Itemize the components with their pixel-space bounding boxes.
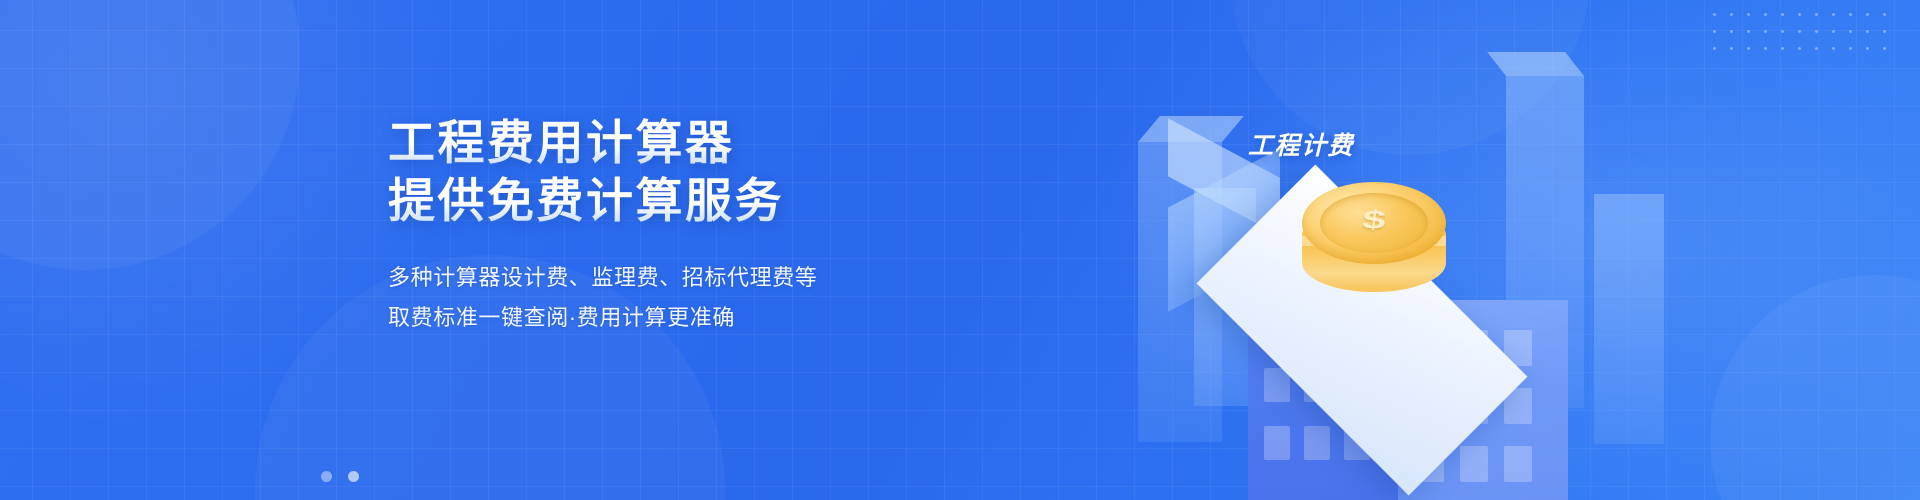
carousel-pagination (0, 471, 1920, 482)
banner-illustration: $ 工程计费 (1120, 0, 1680, 500)
illustration-badge-label: 工程计费 (1248, 126, 1354, 162)
banner-copy-block: 工程费用计算器 提供免费计算服务 多种计算器设计费、监理费、招标代理费等 取费标… (388, 114, 1008, 338)
dollar-sign-icon: $ (1300, 205, 1447, 235)
banner-subtitle-line-2: 取费标准一键查阅·费用计算更准确 (388, 298, 1008, 338)
banner-headline-line-2: 提供免费计算服务 (388, 172, 1008, 230)
carousel-dot-1[interactable] (321, 471, 332, 482)
tower-window (1264, 426, 1290, 460)
hero-banner: 工程费用计算器 提供免费计算服务 多种计算器设计费、监理费、招标代理费等 取费标… (0, 0, 1920, 500)
tower-window (1304, 426, 1330, 460)
banner-headline-line-1: 工程费用计算器 (388, 114, 1008, 172)
coin-face: $ (1302, 182, 1446, 264)
banner-subtitle-line-1: 多种计算器设计费、监理费、招标代理费等 (388, 258, 1008, 298)
background-building-4 (1594, 194, 1664, 444)
carousel-dot-2[interactable] (348, 471, 359, 482)
dot-grid-decoration (1706, 6, 1886, 52)
gold-coin-icon: $ (1296, 180, 1452, 316)
background-building-3-roof (1487, 52, 1584, 76)
